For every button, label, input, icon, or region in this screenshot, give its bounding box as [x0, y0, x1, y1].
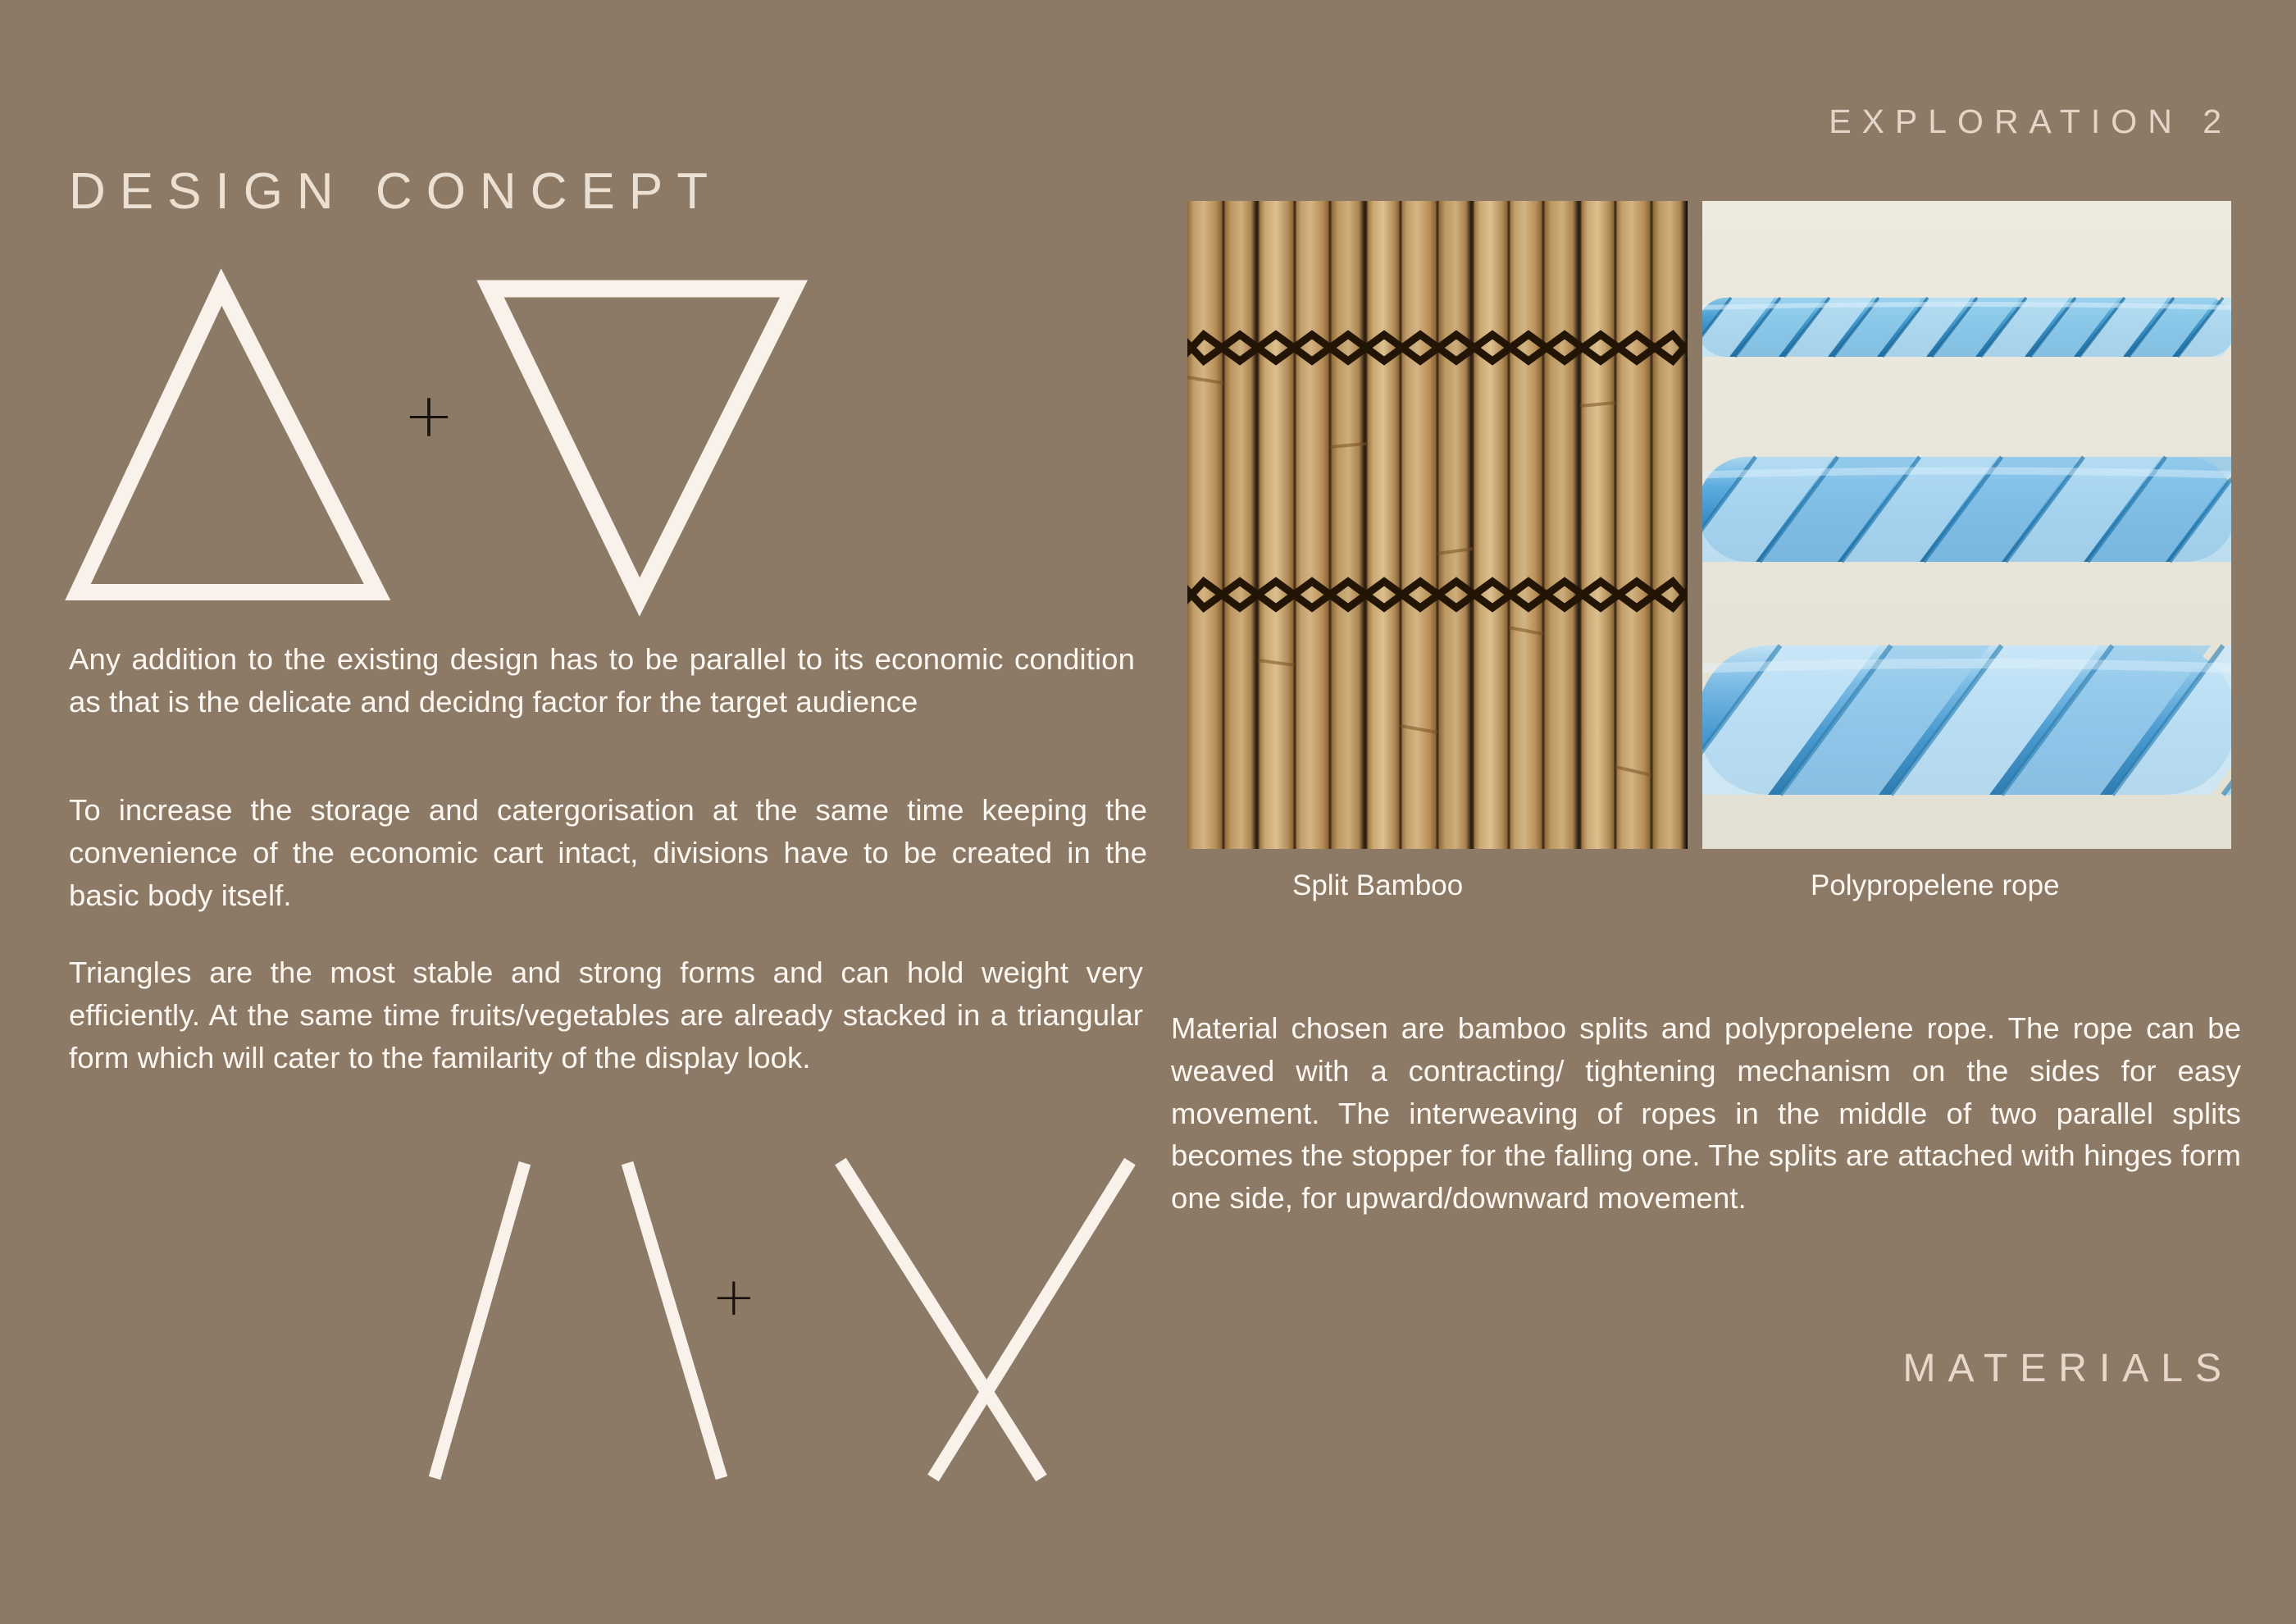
- caption-polypropelene-rope: Polypropelene rope: [1811, 869, 2060, 902]
- split-bamboo-photo: [1187, 201, 1688, 849]
- concept-paragraph-3: Triangles are the most stable and strong…: [69, 951, 1143, 1079]
- rope-strand-top: [1702, 298, 2231, 357]
- rope-strand-middle: [1702, 457, 2231, 562]
- triangle-up-icon: [78, 287, 377, 592]
- materials-label: MATERIALS: [1903, 1346, 2234, 1391]
- triangle-shapes-svg: [64, 271, 884, 607]
- concept-paragraph-1: Any addition to the existing design has …: [69, 638, 1135, 723]
- caption-split-bamboo: Split Bamboo: [1292, 869, 1463, 902]
- plus-operator-crosses: +: [712, 1271, 756, 1324]
- polypropelene-rope-photo: [1702, 201, 2231, 849]
- x-left-stroke-b: [627, 1163, 722, 1478]
- rope-photo-graphic: [1702, 201, 2231, 849]
- page-title: DESIGN CONCEPT: [69, 162, 722, 221]
- cross-shapes-svg: [402, 1140, 1140, 1485]
- x-left-stroke-a: [435, 1163, 525, 1478]
- triangle-concept-diagram: [64, 271, 884, 607]
- bamboo-photo-graphic: [1187, 201, 1688, 849]
- exploration-label: EXPLORATION 2: [1829, 103, 2232, 141]
- materials-paragraph: Material chosen are bamboo splits and po…: [1171, 1007, 2241, 1220]
- x-right-stroke-a: [840, 1161, 1041, 1478]
- rope-strand-bottom: [1702, 645, 2231, 795]
- cross-concept-diagram: [402, 1140, 1140, 1485]
- plus-operator-triangles: +: [403, 385, 454, 446]
- concept-paragraph-2: To increase the storage and catergorisat…: [69, 789, 1147, 916]
- slide-canvas: DESIGN CONCEPT EXPLORATION 2 MATERIALS +…: [0, 0, 2296, 1624]
- x-right-stroke-b: [933, 1161, 1130, 1478]
- triangle-down-icon: [490, 289, 794, 597]
